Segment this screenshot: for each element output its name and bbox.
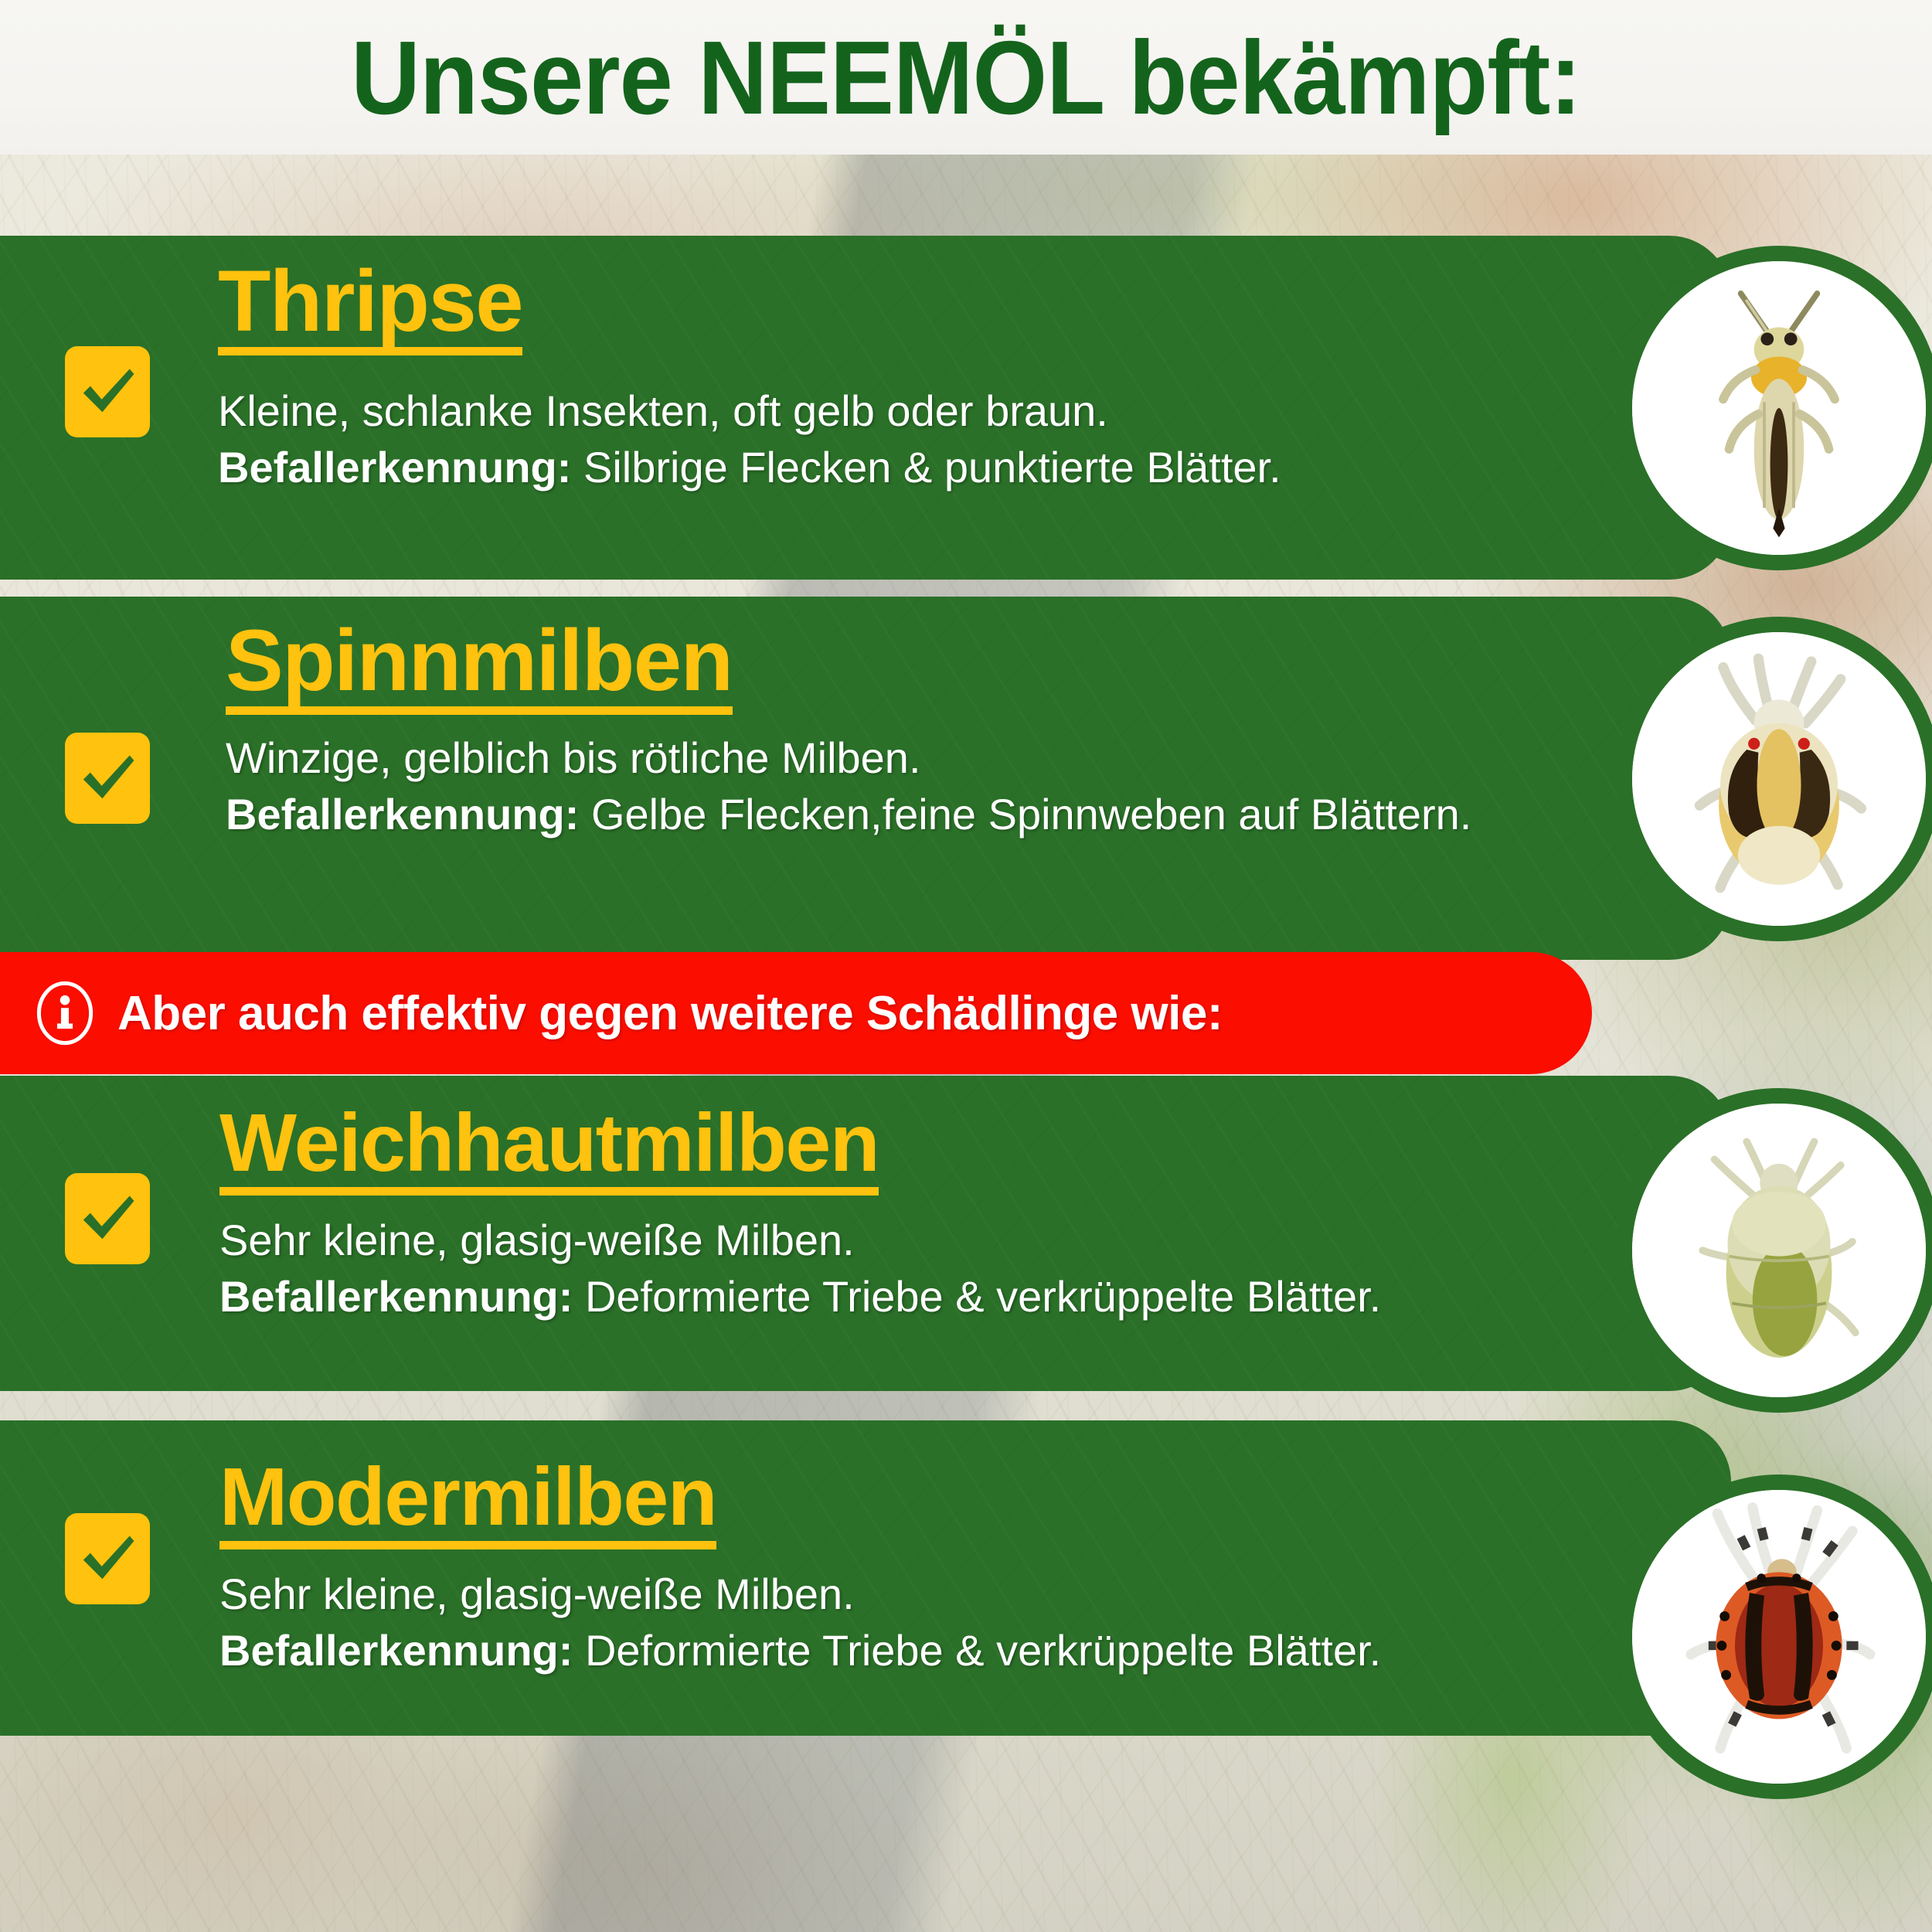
- detection-text: Deformierte Triebe & verkrüppelte Blätte…: [585, 1272, 1381, 1321]
- checkbox-weichhautmilben: [65, 1173, 150, 1264]
- pest-description-text: Sehr kleine, glasig-weiße Milben.: [219, 1570, 855, 1618]
- pest-description-modermilben: Sehr kleine, glasig-weiße Milben. Befall…: [219, 1568, 1564, 1676]
- pest-photo-thripse: [1617, 246, 1932, 570]
- pest-name-modermilben: Modermilben: [219, 1458, 716, 1549]
- detection-label: Befallerkennung:: [226, 790, 579, 838]
- detection-label: Befallerkennung:: [219, 1626, 573, 1675]
- checkmark-icon: [76, 1527, 139, 1590]
- pest-description-text: Winzige, gelblich bis rötliche Milben.: [226, 733, 921, 782]
- pest-description-thripse: Kleine, schlanke Insekten, oft gelb oder…: [218, 385, 1578, 493]
- pest-description-weichhautmilben: Sehr kleine, glasig-weiße Milben. Befall…: [219, 1214, 1564, 1322]
- detection-label: Befallerkennung:: [218, 443, 571, 492]
- pest-content-thripse: Thripse Kleine, schlanke Insekten, oft g…: [218, 259, 1578, 493]
- detection-label: Befallerkennung:: [219, 1272, 573, 1321]
- header-bar: Unsere NEEMÖL bekämpft:: [0, 0, 1932, 155]
- checkbox-spinnmilben: [65, 733, 150, 824]
- checkmark-icon: [76, 1187, 139, 1250]
- page-title: Unsere NEEMÖL bekämpft:: [351, 26, 1580, 130]
- detection-text: Silbrige Flecken & punktierte Blätter.: [583, 443, 1281, 492]
- pest-content-spinnmilben: Spinnmilben Winzige, gelblich bis rötlic…: [226, 618, 1539, 840]
- red-mite-photo: [1632, 1490, 1926, 1784]
- info-circle-icon: [32, 981, 97, 1046]
- pest-content-modermilben: Modermilben Sehr kleine, glasig-weiße Mi…: [219, 1458, 1564, 1676]
- checkbox-modermilben: [65, 1513, 150, 1604]
- spider-mite-photo: [1632, 632, 1926, 926]
- info-banner: Aber auch effektiv gegen weitere Schädli…: [0, 952, 1592, 1074]
- pest-name-spinnmilben: Spinnmilben: [226, 618, 733, 715]
- pest-content-weichhautmilben: Weichhautmilben Sehr kleine, glasig-weiß…: [219, 1104, 1564, 1322]
- pest-photo-modermilben: [1617, 1475, 1932, 1799]
- pest-name-thripse: Thripse: [218, 259, 522, 355]
- detection-text: Deformierte Triebe & verkrüppelte Blätte…: [585, 1626, 1381, 1675]
- pest-photo-weichhautmilben: [1617, 1088, 1932, 1413]
- checkmark-icon: [76, 747, 139, 810]
- info-banner-text: Aber auch effektiv gegen weitere Schädli…: [117, 986, 1223, 1041]
- detection-text: Gelbe Flecken,feine Spinnweben auf Blätt…: [591, 790, 1471, 838]
- pest-name-weichhautmilben: Weichhautmilben: [219, 1104, 879, 1196]
- pest-description-text: Kleine, schlanke Insekten, oft gelb oder…: [218, 386, 1108, 435]
- thrips-photo: [1632, 261, 1926, 555]
- pest-photo-spinnmilben: [1617, 617, 1932, 941]
- pest-description-text: Sehr kleine, glasig-weiße Milben.: [219, 1216, 855, 1264]
- broad-mite-photo: [1632, 1104, 1926, 1397]
- checkbox-thripse: [65, 346, 150, 437]
- checkmark-icon: [76, 360, 139, 423]
- pest-description-spinnmilben: Winzige, gelblich bis rötliche Milben. B…: [226, 732, 1539, 840]
